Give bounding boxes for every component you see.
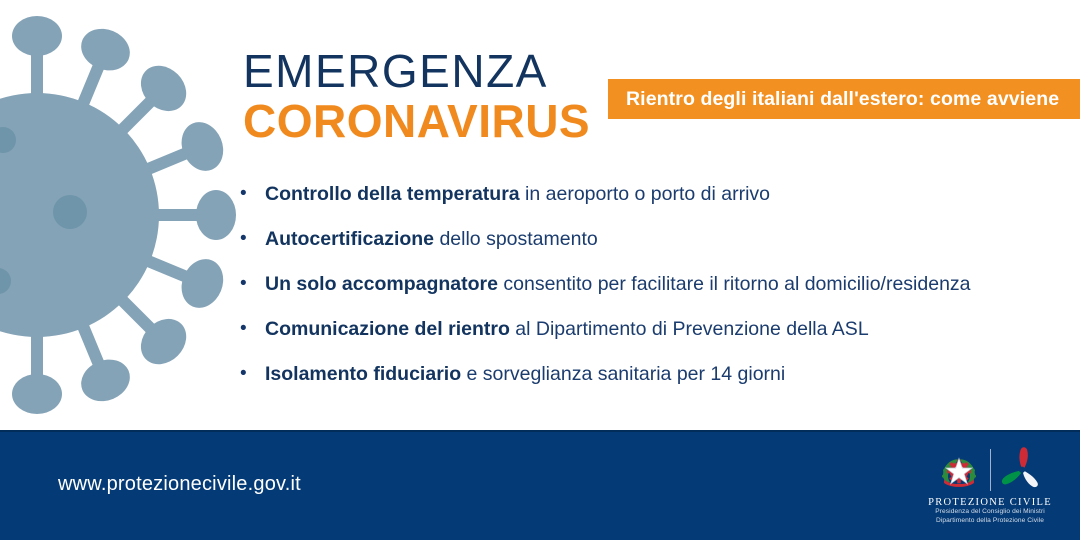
headline-line-coronavirus: CORONAVIRUS [243, 98, 590, 144]
logo-subtitle-line-1: Presidenza del Consiglio dei Ministri [905, 508, 1075, 517]
website-url[interactable]: www.protezionecivile.gov.it [58, 473, 301, 496]
measure-lead: Comunicazione del rientro [265, 318, 510, 340]
bullet-icon: • [240, 364, 265, 383]
protezione-civile-logo: PROTEZIONE CIVILE Presidenza del Consigl… [905, 444, 1075, 530]
list-item: • Un solo accompagnatore consentito per … [240, 272, 1060, 296]
logo-marks [905, 444, 1075, 496]
logo-title: PROTEZIONE CIVILE [905, 497, 1075, 508]
coronavirus-emergency-poster: EMERGENZA CORONAVIRUS Rientro degli ital… [0, 0, 1080, 540]
bullet-icon: • [240, 184, 265, 203]
headline-line-emergenza: EMERGENZA [243, 48, 590, 94]
measure-rest: dello spostamento [434, 228, 598, 250]
measure-text: Isolamento fiduciario e sorveglianza san… [265, 362, 785, 386]
measure-rest: in aeroporto o porto di arrivo [520, 183, 770, 205]
page-title: EMERGENZA CORONAVIRUS [243, 48, 590, 144]
italian-republic-emblem-icon [937, 446, 981, 495]
list-item: • Autocertificazione dello spostamento [240, 227, 1060, 251]
coronavirus-particle-icon [0, 0, 252, 430]
logo-text-block: PROTEZIONE CIVILE Presidenza del Consigl… [905, 497, 1075, 526]
logo-subtitle-line-2: Dipartimento della Protezione Civile [905, 517, 1075, 526]
measure-text: Un solo accompagnatore consentito per fa… [265, 272, 971, 296]
list-item: • Isolamento fiduciario e sorveglianza s… [240, 362, 1060, 386]
measures-list: • Controllo della temperatura in aeropor… [240, 182, 1060, 406]
bullet-icon: • [240, 229, 265, 248]
measure-rest: consentito per facilitare il ritorno al … [498, 273, 971, 295]
list-item: • Controllo della temperatura in aeropor… [240, 182, 1060, 206]
measure-lead: Autocertificazione [265, 228, 434, 250]
measure-rest: e sorveglianza sanitaria per 14 giorni [461, 363, 785, 385]
logo-divider [990, 449, 991, 491]
subject-banner: Rientro degli italiani dall'estero: come… [608, 79, 1080, 119]
measure-rest: al Dipartimento di Prevenzione della ASL [510, 318, 869, 340]
measure-lead: Isolamento fiduciario [265, 363, 461, 385]
measure-lead: Controllo della temperatura [265, 183, 520, 205]
subject-banner-label: Rientro degli italiani dall'estero: come… [626, 88, 1059, 111]
bullet-icon: • [240, 319, 265, 338]
measure-text: Autocertificazione dello spostamento [265, 227, 598, 251]
list-item: • Comunicazione del rientro al Dipartime… [240, 317, 1060, 341]
measure-text: Controllo della temperatura in aeroporto… [265, 182, 770, 206]
measure-text: Comunicazione del rientro al Dipartiment… [265, 317, 869, 341]
protezione-civile-pinwheel-icon [1000, 446, 1044, 495]
bullet-icon: • [240, 274, 265, 293]
measure-lead: Un solo accompagnatore [265, 273, 498, 295]
